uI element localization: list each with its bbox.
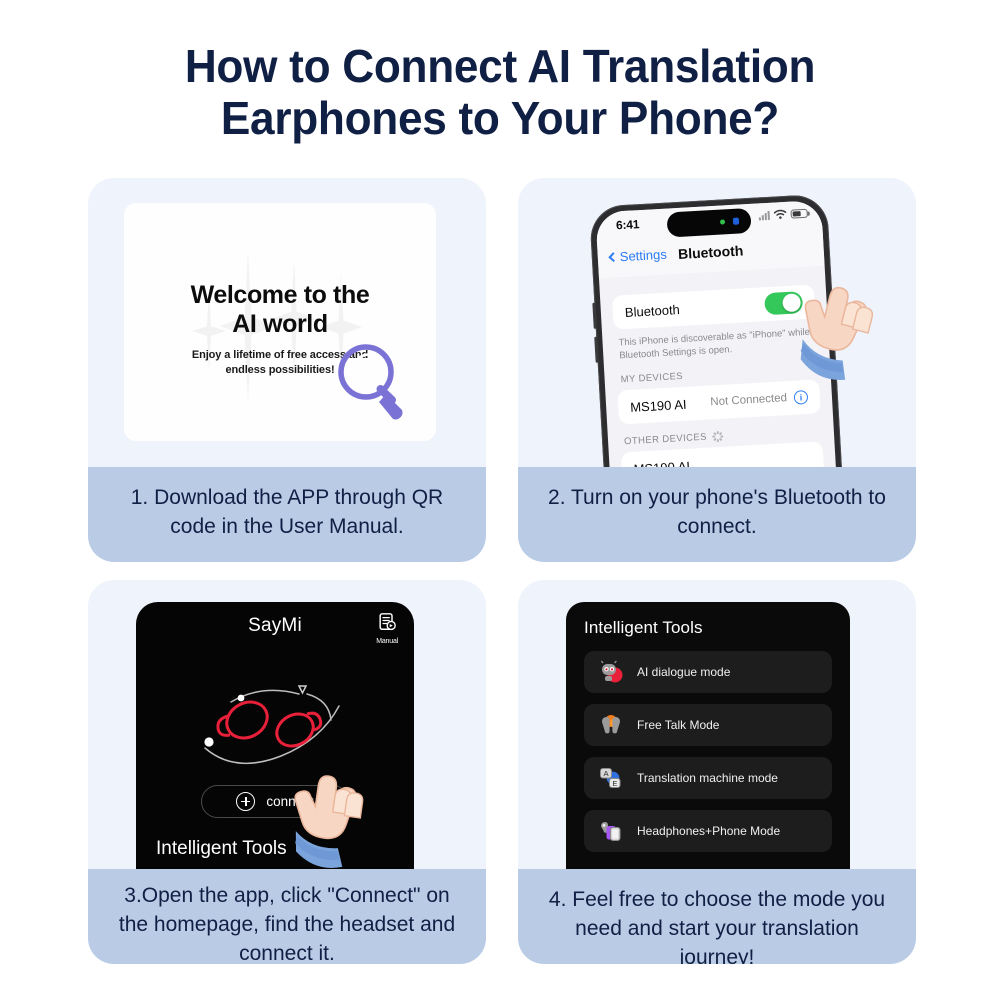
phone-volume-button[interactable] (592, 303, 596, 329)
svg-text:E: E (612, 779, 617, 788)
step-4-illustration: Intelligent Tools (518, 580, 916, 869)
device-name: MS190 AI (630, 396, 687, 414)
wifi-icon (773, 209, 787, 220)
manual-icon (377, 612, 397, 632)
battery-icon (790, 208, 807, 218)
loading-spinner-icon (712, 431, 724, 443)
mode-row-translation[interactable]: A E Translation machine mode (584, 757, 832, 799)
dynamic-island (666, 208, 751, 238)
steps-grid: Welcome to the AI world Enjoy a lifetime… (88, 178, 916, 964)
step-2-illustration: 6:41 (518, 178, 916, 467)
step-4-caption: 4. Feel free to choose the mode you need… (518, 869, 916, 964)
page-title-line-1: How to Connect AI Translation (20, 40, 980, 92)
phone-volume-button[interactable] (594, 337, 598, 363)
step-card-3: SayMi Manual (88, 580, 486, 964)
step-1-illustration: Welcome to the AI world Enjoy a lifetime… (88, 178, 486, 467)
welcome-title-line-2: AI world (124, 310, 436, 339)
step-3-caption: 3.Open the app, click "Connect" on the h… (88, 869, 486, 964)
magnifier-icon (336, 342, 410, 425)
earbuds-icon (598, 712, 624, 738)
plus-circle-icon (236, 792, 255, 811)
green-indicator-icon (720, 219, 725, 224)
welcome-title-line-1: Welcome to the (124, 281, 436, 310)
my-devices-label: MY DEVICES (620, 371, 683, 385)
mode-label: Free Talk Mode (637, 718, 719, 732)
manual-button[interactable]: Manual (376, 612, 398, 645)
intelligent-tools-label: Intelligent Tools (156, 838, 287, 860)
mode-label: Headphones+Phone Mode (637, 824, 780, 838)
mode-label: Translation machine mode (637, 771, 778, 785)
mode-label: AI dialogue mode (637, 665, 730, 679)
bluetooth-label: Bluetooth (624, 302, 680, 320)
app-name: SayMi (136, 615, 414, 637)
signal-icon (758, 210, 769, 220)
step-1-caption: 1. Download the APP through QR code in t… (88, 467, 486, 562)
pointing-hand-icon (792, 274, 888, 391)
welcome-title: Welcome to the AI world (124, 281, 436, 339)
mode-row-free-talk[interactable]: Free Talk Mode (584, 704, 832, 746)
device-status: Not Connected (710, 392, 787, 408)
tools-header: Intelligent Tools (584, 618, 832, 638)
mode-row-ai-dialogue[interactable]: AI dialogue mode (584, 651, 832, 693)
page-title-line-2: Earphones to Your Phone? (20, 92, 980, 144)
robot-icon (598, 659, 624, 685)
manual-label: Manual (376, 638, 398, 645)
status-indicators (758, 208, 807, 221)
welcome-screen: Welcome to the AI world Enjoy a lifetime… (124, 203, 436, 441)
info-icon[interactable]: i (794, 390, 809, 405)
nav-title: Bluetooth (597, 238, 824, 267)
step-card-1: Welcome to the AI world Enjoy a lifetime… (88, 178, 486, 562)
blue-indicator-icon (733, 218, 739, 225)
intelligent-tools-screen: Intelligent Tools (566, 602, 850, 869)
other-devices-label: OTHER DEVICES (624, 432, 707, 448)
page-title: How to Connect AI Translation Earphones … (20, 40, 980, 144)
pointing-hand-icon (284, 762, 380, 869)
device-name: MS190 AI (633, 458, 690, 467)
step-card-4: Intelligent Tools (518, 580, 916, 964)
step-card-2: 6:41 (518, 178, 916, 562)
step-2-caption: 2. Turn on your phone's Bluetooth to con… (518, 467, 916, 562)
infographic-page: How to Connect AI Translation Earphones … (0, 0, 1000, 1000)
mode-row-headphones-phone[interactable]: Headphones+Phone Mode (584, 810, 832, 852)
translate-icon: A E (598, 765, 624, 791)
status-time: 6:41 (616, 217, 640, 232)
headphone-phone-icon (598, 818, 624, 844)
step-3-illustration: SayMi Manual (88, 580, 486, 869)
